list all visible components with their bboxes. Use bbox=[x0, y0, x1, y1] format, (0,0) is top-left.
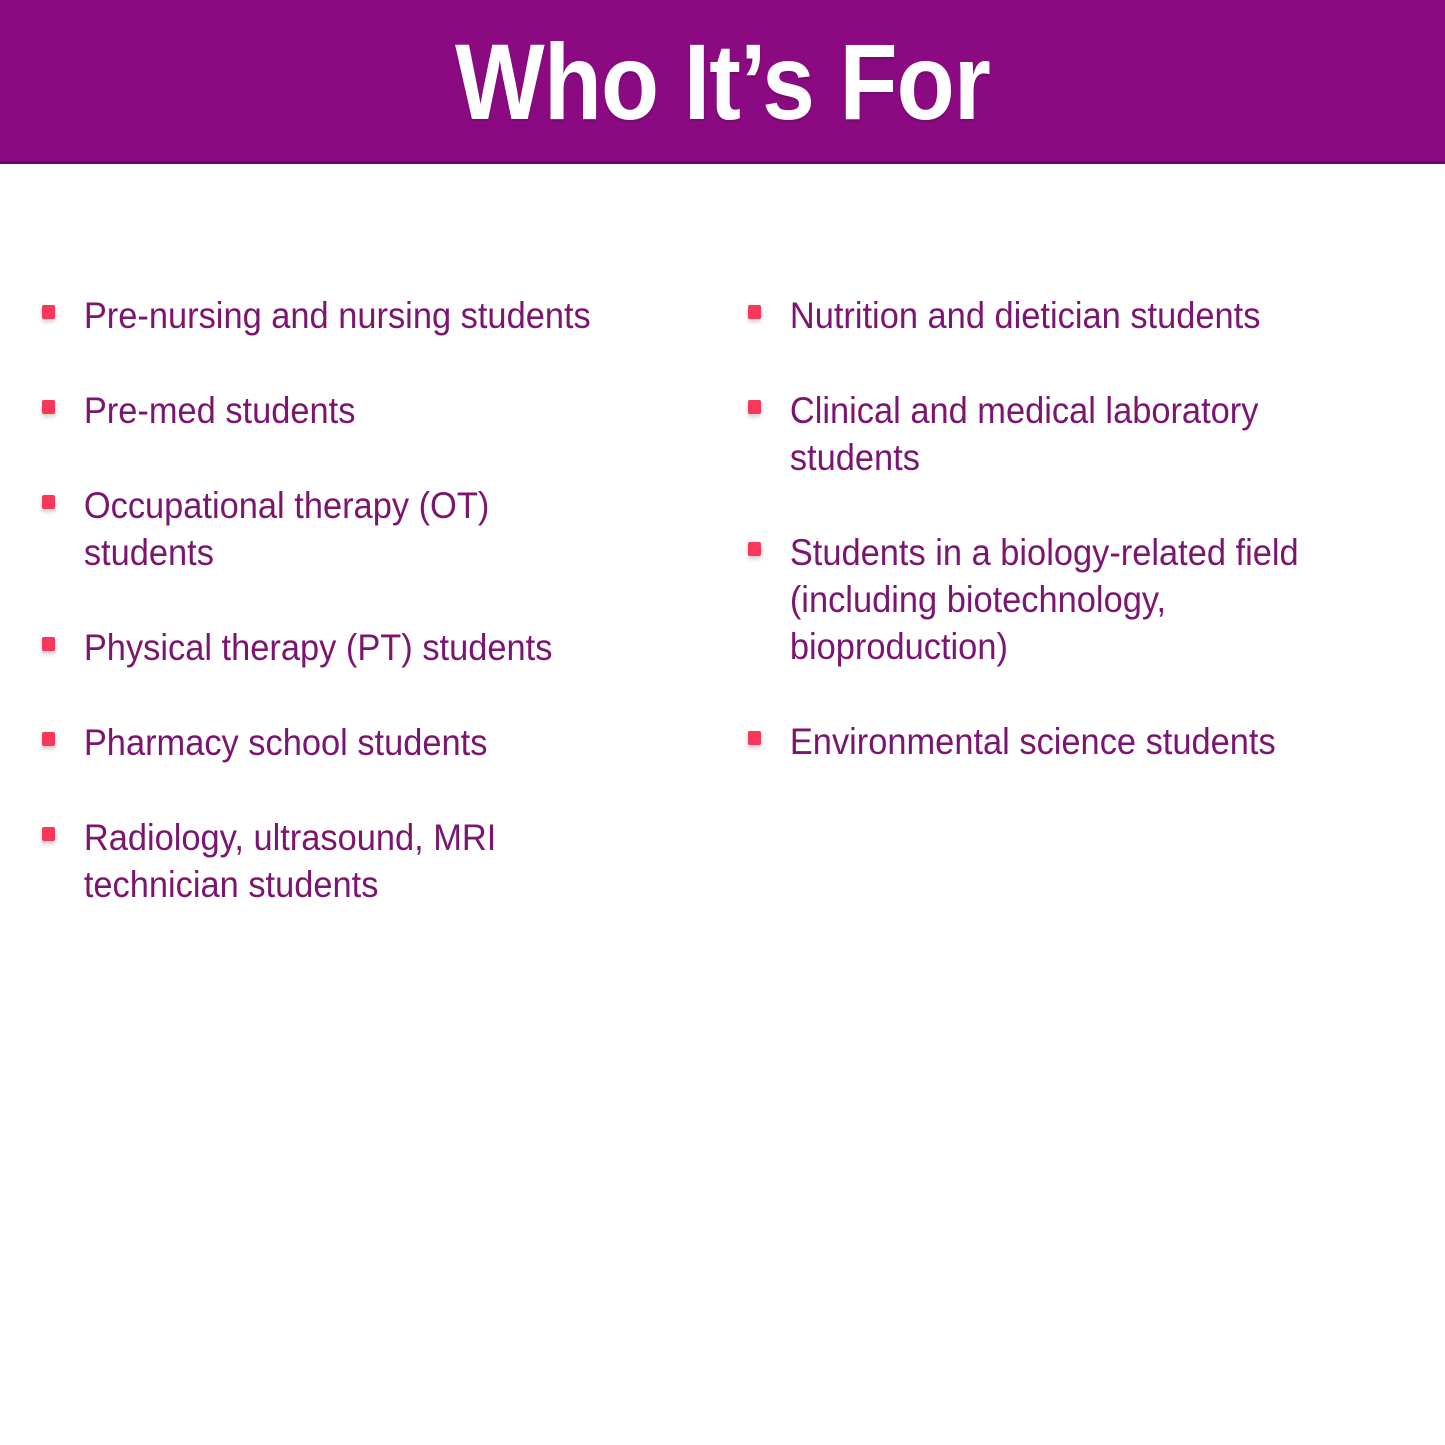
right-column: Nutrition and dietician students Clinica… bbox=[748, 292, 1408, 765]
list-item-label: Environmental science students bbox=[790, 718, 1362, 765]
square-bullet-icon bbox=[42, 732, 55, 746]
list-item-label: Pharmacy school students bbox=[84, 719, 656, 766]
square-bullet-icon bbox=[748, 731, 761, 745]
list-item-label: Clinical and medical laboratory students bbox=[790, 387, 1362, 481]
slide-who-its-for: Who It’s For Pre-nursing and nursing stu… bbox=[0, 0, 1445, 1445]
content-area: Pre-nursing and nursing students Pre-med… bbox=[0, 164, 1445, 1445]
square-bullet-icon bbox=[748, 542, 761, 556]
list-item-label: Nutrition and dietician students bbox=[790, 292, 1362, 339]
left-column: Pre-nursing and nursing students Pre-med… bbox=[42, 292, 702, 908]
list-item-label: Pre-nursing and nursing students bbox=[84, 292, 656, 339]
square-bullet-icon bbox=[42, 637, 55, 651]
square-bullet-icon bbox=[748, 400, 761, 414]
list-item: Radiology, ultrasound, MRI technician st… bbox=[42, 814, 656, 908]
header-band: Who It’s For bbox=[0, 0, 1445, 164]
list-item-label: Students in a biology-related field (inc… bbox=[790, 529, 1362, 670]
right-bullet-list: Nutrition and dietician students Clinica… bbox=[748, 292, 1408, 765]
list-item: Pre-med students bbox=[42, 387, 656, 434]
list-item-label: Radiology, ultrasound, MRI technician st… bbox=[84, 814, 656, 908]
square-bullet-icon bbox=[748, 305, 761, 319]
list-item: Occupational therapy (OT) students bbox=[42, 482, 656, 576]
list-item: Pre-nursing and nursing students bbox=[42, 292, 656, 339]
square-bullet-icon bbox=[42, 400, 55, 414]
square-bullet-icon bbox=[42, 305, 55, 319]
list-item-label: Physical therapy (PT) students bbox=[84, 624, 656, 671]
list-item: Students in a biology-related field (inc… bbox=[748, 529, 1362, 670]
list-item-label: Pre-med students bbox=[84, 387, 656, 434]
list-item: Environmental science students bbox=[748, 718, 1362, 765]
list-item: Clinical and medical laboratory students bbox=[748, 387, 1362, 481]
list-item-label: Occupational therapy (OT) students bbox=[84, 482, 656, 576]
list-item: Nutrition and dietician students bbox=[748, 292, 1362, 339]
list-item: Pharmacy school students bbox=[42, 719, 656, 766]
square-bullet-icon bbox=[42, 495, 55, 509]
square-bullet-icon bbox=[42, 827, 55, 841]
page-title: Who It’s For bbox=[87, 0, 1359, 164]
list-item: Physical therapy (PT) students bbox=[42, 624, 656, 671]
left-bullet-list: Pre-nursing and nursing students Pre-med… bbox=[42, 292, 702, 908]
